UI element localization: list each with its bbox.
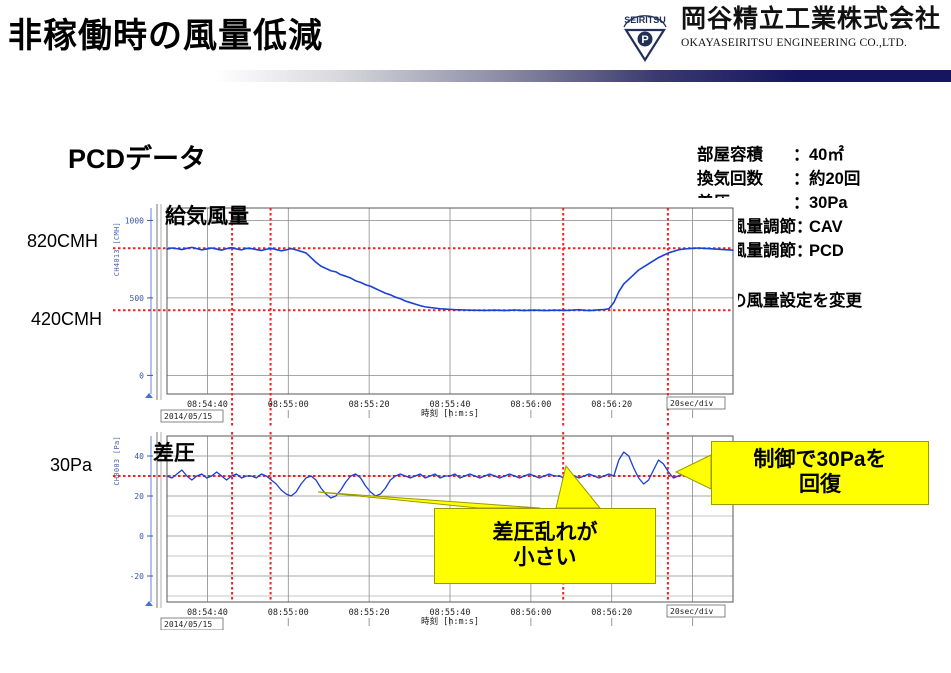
svg-text:08:55:20: 08:55:20	[349, 608, 390, 618]
svg-text:-20: -20	[130, 572, 145, 581]
upper-y-axis-label: CH4013 [CMH]	[113, 222, 121, 276]
svg-text:0: 0	[139, 371, 144, 380]
spec-label: 換気回数	[697, 167, 793, 191]
svg-text:2014/05/15: 2014/05/15	[164, 620, 212, 629]
callout-pressure-recovery: 制御で30Paを 回復	[711, 441, 929, 505]
callout-small-fluctuation: 差圧乱れが 小さい	[434, 508, 656, 584]
svg-text:08:55:00: 08:55:00	[268, 608, 309, 618]
svg-text:08:54:40: 08:54:40	[187, 400, 228, 410]
chart-supply-airflow: 1000500008:54:4008:55:0008:55:2008:55:40…	[113, 198, 738, 426]
spec-colon: ：	[793, 143, 809, 167]
annotation-820cmh: 820CMH	[27, 231, 98, 252]
svg-text:P: P	[641, 34, 648, 46]
svg-text:0: 0	[139, 532, 144, 541]
spec-row: 部屋容積 ： 40㎡	[697, 143, 947, 167]
spec-value: PCD	[809, 239, 947, 263]
svg-text:時刻 [h:m:s]: 時刻 [h:m:s]	[421, 408, 479, 419]
svg-text:20sec/div: 20sec/div	[670, 399, 714, 408]
svg-text:08:55:00: 08:55:00	[268, 400, 309, 410]
svg-text:SEIRITSU: SEIRITSU	[624, 15, 666, 25]
svg-text:20sec/div: 20sec/div	[670, 607, 714, 616]
svg-text:時刻 [h:m:s]: 時刻 [h:m:s]	[421, 616, 479, 627]
spec-label: 部屋容積	[697, 143, 793, 167]
callout-right-line2: 回復	[753, 473, 886, 498]
svg-text:08:55:20: 08:55:20	[349, 400, 390, 410]
annotation-30pa: 30Pa	[50, 455, 92, 476]
header-solid-bar	[800, 70, 951, 82]
svg-text:40: 40	[134, 452, 144, 461]
lower-y-axis-label: CH0003 [Pa]	[113, 436, 121, 486]
annotation-420cmh: 420CMH	[31, 309, 102, 330]
slide-header: 非稼働時の風量低減 SEIRITSU P 岡谷精立工業株式会社 OKAYASEI…	[0, 0, 951, 84]
spec-colon: ：	[793, 191, 809, 215]
page-title: 非稼働時の風量低減	[8, 8, 323, 57]
spec-colon: ：	[793, 167, 809, 191]
upper-plot-svg: 1000500008:54:4008:55:0008:55:2008:55:40…	[113, 198, 738, 426]
company-name-jp: 岡谷精立工業株式会社	[681, 6, 941, 34]
company-logo-block: SEIRITSU P 岡谷精立工業株式会社 OKAYASEIRITSU ENGI…	[617, 6, 941, 64]
spec-value: 40㎡	[809, 143, 947, 167]
svg-text:08:56:20: 08:56:20	[591, 608, 632, 618]
spec-value: CAV	[809, 215, 947, 239]
spec-row: 換気回数 ： 約20回	[697, 167, 947, 191]
callout-right-line1: 制御で30Paを	[753, 448, 886, 473]
svg-text:20: 20	[134, 492, 144, 501]
seiritsu-logo-icon: SEIRITSU P	[617, 6, 673, 64]
chart-section-title: PCDデータ	[68, 137, 206, 176]
svg-text:08:56:00: 08:56:00	[510, 400, 551, 410]
svg-text:08:54:40: 08:54:40	[187, 608, 228, 618]
callout-mid-line1: 差圧乱れが	[493, 521, 598, 546]
svg-text:500: 500	[130, 294, 145, 303]
upper-series-label: 給気風量	[165, 200, 249, 230]
callout-mid-line2: 小さい	[493, 546, 598, 571]
lower-series-label: 差圧	[153, 437, 195, 467]
spec-value: 約20回	[809, 167, 947, 191]
svg-text:1000: 1000	[125, 216, 144, 225]
company-name-en: OKAYASEIRITSU ENGINEERING CO.,LTD.	[681, 37, 907, 49]
svg-text:2014/05/15: 2014/05/15	[164, 412, 212, 421]
header-gradient-bar	[0, 70, 800, 82]
spec-value: 30Pa	[809, 191, 947, 215]
svg-text:08:56:00: 08:56:00	[510, 608, 551, 618]
svg-text:08:56:20: 08:56:20	[591, 400, 632, 410]
